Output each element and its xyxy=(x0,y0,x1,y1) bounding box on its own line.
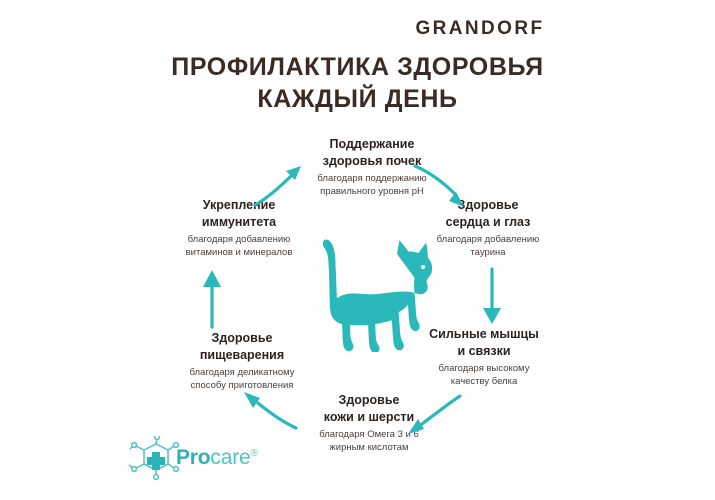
procare-registered-mark: ® xyxy=(250,448,257,459)
page-title-line-2: КАЖДЫЙ ДЕНЬ xyxy=(0,84,715,116)
node-digestion-title: Здоровье пищеварения xyxy=(158,330,326,363)
node-muscles-subtitle: благодаря высокому качеству белка xyxy=(398,363,570,388)
arrow-down-left-icon xyxy=(402,392,464,442)
procare-wordmark: Procare® xyxy=(176,446,258,470)
arrow-up-left-icon xyxy=(236,386,300,436)
procare-logo: Procare® xyxy=(126,436,256,484)
node-heart-subtitle: благодаря добавлению таурина xyxy=(408,234,568,259)
arrow-up-icon xyxy=(188,266,236,330)
node-muscles-title: Сильные мышцы и связки xyxy=(398,326,570,359)
page-title-line-1: ПРОФИЛАКТИКА ЗДОРОВЬЯ xyxy=(0,52,715,84)
arrow-down-icon xyxy=(468,266,516,328)
arrow-up-right-icon xyxy=(252,162,308,208)
procare-pro-text: Pro xyxy=(176,446,210,469)
procare-care-text: care xyxy=(210,446,250,469)
node-immunity-subtitle: благодаря добавлению витаминов и минерал… xyxy=(163,234,315,259)
node-digestion: Здоровье пищеварения благодаря деликатно… xyxy=(158,330,326,392)
arrow-down-right-icon xyxy=(412,162,472,212)
brand-name: GRANDORF xyxy=(416,18,545,40)
node-muscles: Сильные мышцы и связки благодаря высоком… xyxy=(398,326,570,388)
page-title: ПРОФИЛАКТИКА ЗДОРОВЬЯ КАЖДЫЙ ДЕНЬ xyxy=(0,52,715,115)
brand-logo: GRANDORF xyxy=(0,18,715,40)
infographic-page: GRANDORF ПРОФИЛАКТИКА ЗДОРОВЬЯ КАЖДЫЙ ДЕ… xyxy=(0,0,715,500)
molecule-plus-icon xyxy=(126,436,182,484)
